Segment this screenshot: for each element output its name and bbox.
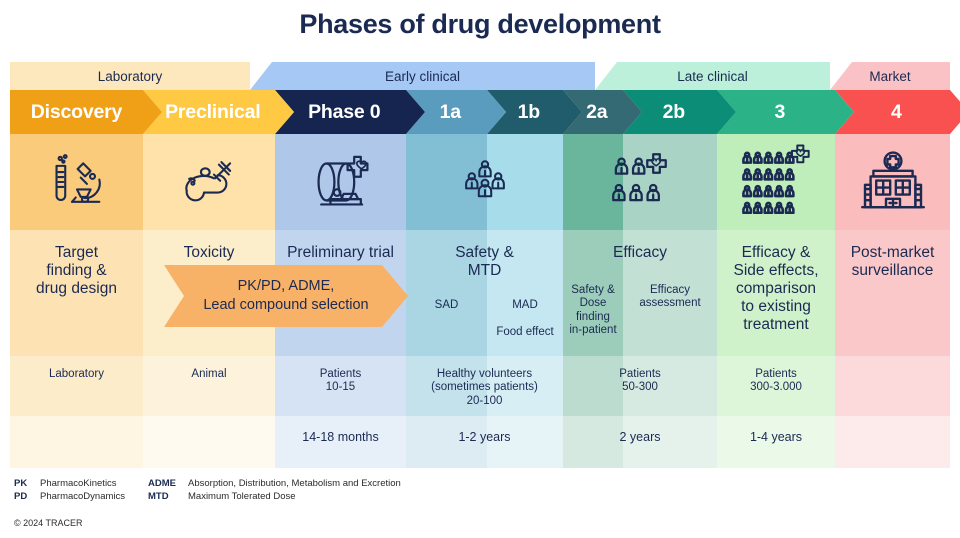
phase-subcell: Efficacy assessment: [623, 284, 717, 311]
phase-arrow-discovery[interactable]: Discovery: [10, 90, 162, 134]
abbreviation-row: ADMEAbsorption, Distribution, Metabolism…: [148, 478, 401, 489]
phase-heading: Post-market surveillance: [835, 244, 950, 280]
abbreviations-right: ADMEAbsorption, Distribution, Metabolism…: [148, 478, 401, 504]
phase-subcell: SAD: [406, 299, 487, 312]
infographic-root: Phases of drug development LaboratoryEar…: [0, 0, 960, 538]
pkpd-ribbon: PK/PD, ADME, Lead compound selection: [164, 265, 408, 327]
abbreviation-key: ADME: [148, 478, 188, 489]
phase-arrow-preclinical[interactable]: Preclinical: [143, 90, 294, 134]
phase-subcell: Safety & Dose finding in-patient: [563, 284, 623, 337]
abbreviation-row: PKPharmacoKinetics: [14, 478, 125, 489]
category-band-label: Market: [830, 62, 950, 90]
phase-heading: Efficacy & Side effects, comparison to e…: [717, 244, 835, 334]
phase-arrow-phase-0[interactable]: Phase 0: [275, 90, 425, 134]
phase-arrow-label: Phase 0: [275, 101, 425, 124]
abbreviation-value: Absorption, Distribution, Metabolism and…: [188, 478, 401, 489]
category-band-early-clinical: Early clinical: [250, 62, 595, 90]
phase-arrow-label: Preclinical: [143, 101, 294, 124]
population-cell: Laboratory: [10, 368, 143, 381]
abbreviation-key: MTD: [148, 491, 188, 502]
phase-heading: Target finding & drug design: [10, 244, 143, 298]
population-cell: Healthy volunteers (sometimes patients) …: [406, 368, 563, 408]
abbreviation-row: MTDMaximum Tolerated Dose: [148, 491, 401, 502]
pkpd-ribbon-line1: PK/PD, ADME,: [238, 277, 335, 296]
phase-arrow-label: 3: [717, 101, 854, 124]
category-band-label: Early clinical: [250, 62, 595, 90]
abbreviation-value: PharmacoKinetics: [40, 478, 117, 489]
abbreviation-key: PK: [14, 478, 40, 489]
category-band-label: Late clinical: [595, 62, 830, 90]
copyright: © 2024 TRACER: [14, 518, 83, 528]
duration-cell: 1-2 years: [406, 430, 563, 445]
population-cell: Animal: [143, 368, 275, 381]
abbreviation-value: Maximum Tolerated Dose: [188, 491, 296, 502]
category-band-label: Laboratory: [10, 62, 250, 90]
abbreviation-key: PD: [14, 491, 40, 502]
phase-heading: Toxicity: [143, 244, 275, 262]
abbreviation-value: PharmacoDynamics: [40, 491, 125, 502]
phases-diagram: LaboratoryEarly clinicalLate clinicalMar…: [10, 62, 950, 468]
page-title: Phases of drug development: [0, 9, 960, 40]
category-band-late-clinical: Late clinical: [595, 62, 830, 90]
phase-arrow-3[interactable]: 3: [717, 90, 854, 134]
abbreviations-left: PKPharmacoKineticsPDPharmacoDynamics: [14, 478, 125, 504]
population-cell: Patients 50-300: [563, 368, 717, 395]
abbreviation-row: PDPharmacoDynamics: [14, 491, 125, 502]
phase-heading: Preliminary trial: [275, 244, 406, 262]
phase-arrow-label: Discovery: [10, 101, 162, 124]
category-band-market: Market: [830, 62, 950, 90]
phase-heading: Safety & MTD: [406, 244, 563, 280]
population-cell: Patients 300-3.000: [717, 368, 835, 395]
duration-cell: 2 years: [563, 430, 717, 445]
phase-subcell: MAD Food effect: [487, 299, 563, 339]
category-band-row: LaboratoryEarly clinicalLate clinicalMar…: [10, 62, 950, 90]
duration-cell: 1-4 years: [717, 430, 835, 445]
footer: PKPharmacoKineticsPDPharmacoDynamics ADM…: [0, 470, 960, 538]
pkpd-ribbon-line2: Lead compound selection: [203, 296, 368, 315]
category-band-laboratory: Laboratory: [10, 62, 250, 90]
phase-heading: Efficacy: [563, 244, 717, 262]
duration-cell: 14-18 months: [275, 430, 406, 445]
population-cell: Patients 10-15: [275, 368, 406, 395]
phase-arrow-row: DiscoveryPreclinicalPhase 01a1b2a2b34: [10, 90, 950, 134]
